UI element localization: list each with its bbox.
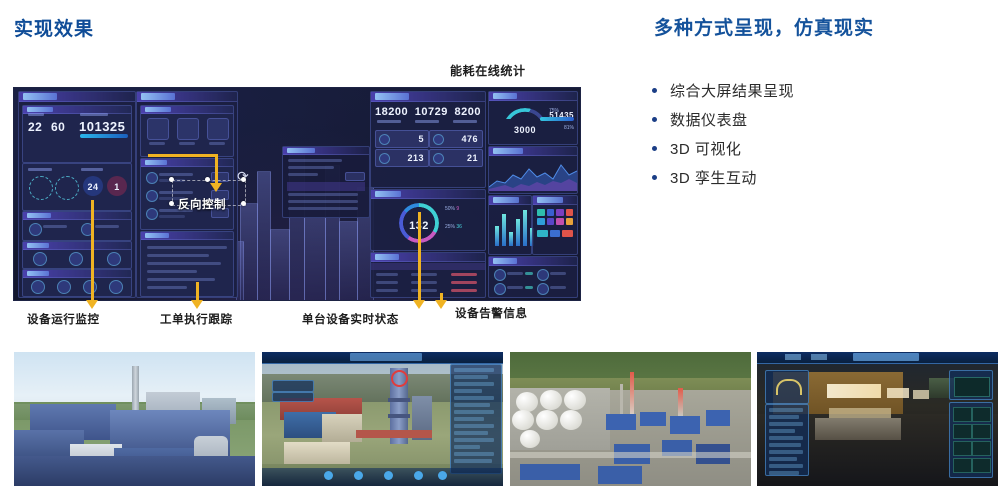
card-public-equipment	[22, 211, 132, 241]
connector-v-reverse	[215, 154, 218, 184]
card-order-schedule	[140, 231, 234, 297]
donut-legend-1: 25% 36	[445, 224, 462, 230]
label-chip[interactable]	[272, 392, 314, 402]
callout-label-1: 设备运行监控	[27, 311, 100, 327]
card-environment: 22 60 101325	[22, 105, 132, 163]
toolbar-icon[interactable]	[414, 471, 423, 480]
metric-temperature: 22	[28, 118, 42, 136]
stat-card-2: 476	[429, 130, 483, 148]
callout-label-reverse-control: 反向控制	[178, 196, 226, 212]
panel-heatmap[interactable]	[532, 195, 578, 255]
kpi-1: 18200	[375, 106, 408, 118]
info-panel-list[interactable]	[765, 404, 809, 476]
arrow-down-icon	[210, 183, 222, 192]
page-title-left: 实现效果	[14, 14, 94, 41]
list-item-label: 3D 可视化	[670, 138, 741, 159]
stat-card-4: 21	[429, 149, 483, 167]
arrow-down-icon	[435, 300, 447, 309]
arrow-down-icon	[413, 300, 425, 309]
list-item: 数据仪表盘	[652, 105, 992, 134]
connector-v-3	[418, 212, 421, 302]
label-chip[interactable]	[272, 380, 314, 392]
card-device-status: 24 1	[22, 163, 132, 211]
thumbnail-indoor-twin[interactable]	[757, 352, 998, 486]
list-item: 3D 孪生互动	[652, 163, 992, 192]
info-panel-top[interactable]	[765, 370, 809, 404]
stat-card-1: 5	[375, 130, 429, 148]
metric-count-b: 1	[107, 176, 127, 196]
card-device-list	[22, 269, 132, 297]
ramp	[815, 418, 901, 440]
connector-v-1	[91, 200, 94, 302]
bar-chart	[495, 208, 534, 246]
hotspot-marker-icon[interactable]	[391, 370, 408, 387]
sidebar-panel[interactable]	[450, 364, 502, 474]
bullet-dot-icon	[652, 146, 657, 151]
page-title-right: 多种方式呈现，仿真现实	[654, 13, 874, 40]
callout-label-2: 工单执行跟踪	[160, 311, 233, 327]
stat-card-3: 213	[375, 149, 429, 167]
selection-handle[interactable]	[205, 177, 210, 182]
kpi-2: 10729	[415, 106, 448, 118]
heatmap-grid-2	[537, 230, 573, 237]
dashboard-screenshot[interactable]: 22 60 101325 24 1	[14, 88, 580, 300]
list-item: 综合大屏结果呈现	[652, 76, 992, 105]
selection-handle[interactable]	[241, 201, 246, 206]
ring-gauge-a	[29, 176, 53, 200]
donut-legend-2: 50% 9	[445, 206, 459, 212]
callout-label-energy: 能耗在线统计	[450, 62, 526, 79]
gauge-pct: 75%	[549, 108, 559, 114]
connector-h-reverse	[148, 154, 218, 157]
window-lights	[827, 384, 881, 398]
panel-production-summary[interactable]: 18200 10729 8200 5 476 213 21	[370, 91, 486, 188]
toolbar-icon[interactable]	[438, 471, 447, 480]
panel-alarm-table[interactable]	[370, 252, 486, 298]
card-alarm-equipment	[22, 241, 132, 269]
camera-grid-panel[interactable]	[949, 402, 993, 478]
selection-handle[interactable]	[241, 177, 246, 182]
panel-header	[19, 92, 135, 102]
feature-list: 综合大屏结果呈现 数据仪表盘 3D 可视化 3D 孪生互动	[652, 76, 992, 192]
card-order-summary	[140, 105, 234, 157]
thumbnail-plant-panorama[interactable]	[14, 352, 255, 486]
panel-quality-overview[interactable]: 132 25% 36 50% 9	[370, 189, 486, 251]
metric-humidity: 60	[51, 118, 65, 136]
arrow-down-icon	[86, 300, 98, 309]
panel-status-strip[interactable]	[488, 256, 578, 298]
panel-bar-chart[interactable]	[488, 195, 532, 255]
list-item-label: 3D 孪生互动	[670, 167, 757, 188]
panel-title-bar	[23, 93, 57, 100]
connector-v-2	[196, 282, 199, 302]
arrow-down-icon	[191, 300, 203, 309]
toolbar-icon[interactable]	[354, 471, 363, 480]
panel-device-monitor[interactable]: 22 60 101325 24 1	[18, 91, 136, 298]
selection-handle[interactable]	[169, 201, 174, 206]
pressure-bar	[80, 134, 128, 138]
panel-trend-chart[interactable]	[488, 146, 578, 194]
callout-label-4: 设备告警信息	[455, 305, 528, 321]
bottom-toolbar[interactable]	[262, 468, 503, 486]
gauge-value: 3000	[503, 120, 547, 138]
area-chart	[489, 157, 577, 191]
heatmap-grid	[537, 209, 573, 225]
list-item-label: 数据仪表盘	[670, 109, 748, 130]
toolbar-icon[interactable]	[324, 471, 333, 480]
kpi-3: 8200	[455, 106, 481, 118]
list-item-label: 综合大屏结果呈现	[670, 80, 794, 101]
kpi-row: 18200 10729 8200	[375, 106, 481, 118]
selection-handle[interactable]	[169, 177, 174, 182]
model-info-popup[interactable]	[282, 146, 370, 218]
metric-count-a: 24	[83, 176, 103, 196]
minimap-panel[interactable]	[949, 370, 993, 400]
chimney	[630, 372, 634, 418]
ring-gauge-b	[55, 176, 79, 200]
bullet-dot-icon	[652, 175, 657, 180]
callout-label-3: 单台设备实时状态	[302, 311, 399, 327]
panel-energy-gauge[interactable]: 3000 75%	[488, 91, 578, 145]
bullet-dot-icon	[652, 117, 657, 122]
thumbnail-petrochemical-aerial[interactable]	[510, 352, 751, 486]
toolbar-icon[interactable]	[384, 471, 393, 480]
bullet-dot-icon	[652, 88, 657, 93]
list-item: 3D 可视化	[652, 134, 992, 163]
thumbnail-digital-twin-ui[interactable]	[262, 352, 503, 486]
